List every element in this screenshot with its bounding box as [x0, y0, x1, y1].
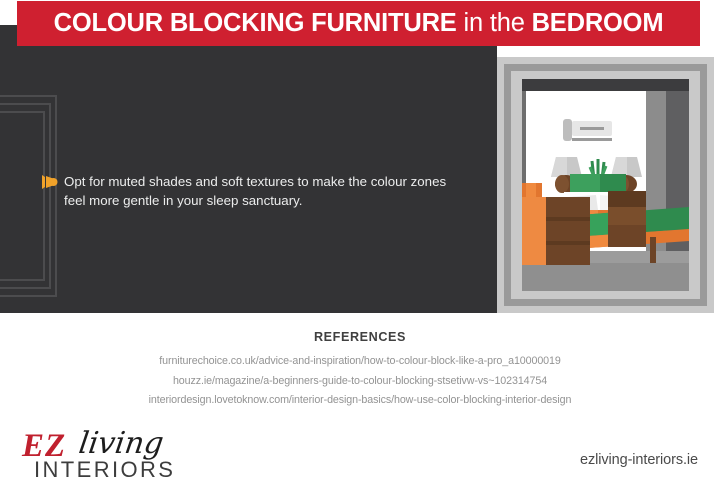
- page-title-tail: BEDROOM: [532, 9, 664, 37]
- references-heading: REFERENCES: [0, 330, 720, 344]
- ez-living-interiors-logo[interactable]: EZ living INTERIORS: [22, 430, 222, 478]
- hero-panel: [0, 25, 497, 313]
- logo-living-text: living: [77, 429, 165, 459]
- reference-link-1[interactable]: furniturechoice.co.uk/advice-and-inspira…: [0, 352, 720, 372]
- bedroom-colour-blocking-illustration: [522, 79, 689, 291]
- bedroom-illustration-card: [497, 57, 714, 313]
- tip-text: Opt for muted shades and soft textures t…: [64, 172, 461, 210]
- page-title: COLOUR BLOCKING FURNITURE in the BEDROOM: [54, 11, 664, 37]
- title-banner: COLOUR BLOCKING FURNITURE in the BEDROOM: [17, 1, 700, 46]
- references-section: REFERENCES furniturechoice.co.uk/advice-…: [0, 330, 720, 411]
- logo-interiors-text: INTERIORS: [34, 459, 175, 481]
- page-title-main: COLOUR BLOCKING FURNITURE: [54, 9, 457, 37]
- gold-arrow-bullet-icon: [41, 174, 59, 190]
- tip-row: Opt for muted shades and soft textures t…: [41, 172, 461, 210]
- decorative-frame-inner: [0, 111, 45, 281]
- infographic-root: COLOUR BLOCKING FURNITURE in the BEDROOM…: [0, 0, 720, 480]
- reference-link-2[interactable]: houzz.ie/magazine/a-beginners-guide-to-c…: [0, 372, 720, 392]
- nightstand-right-icon: [608, 191, 646, 247]
- reference-link-3[interactable]: interiordesign.lovetoknow.com/interior-d…: [0, 391, 720, 411]
- website-url[interactable]: ezliving-interiors.ie: [580, 452, 698, 468]
- page-title-connector: in the: [464, 9, 525, 37]
